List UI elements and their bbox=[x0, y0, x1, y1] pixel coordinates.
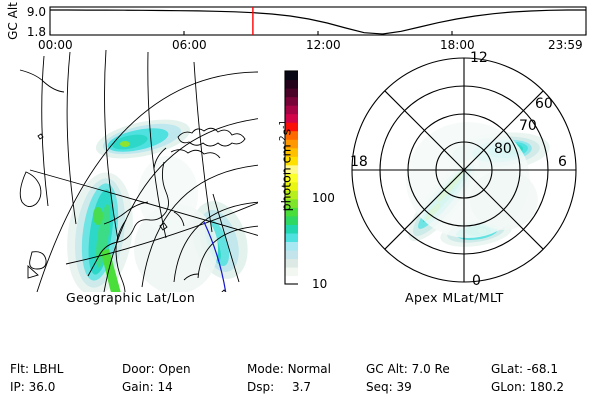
mlat-label-70: 70 bbox=[519, 118, 537, 134]
mlt-panel-caption: Apex MLat/MLT bbox=[405, 290, 504, 305]
mlt-dial-image[interactable]: 12 6 0 18 60 70 80 bbox=[336, 40, 592, 295]
status-seq-label: Seq: bbox=[366, 380, 393, 394]
status-mode-label: Mode: bbox=[247, 362, 284, 376]
mlat-label-60: 60 bbox=[535, 96, 553, 112]
mlt-label-18: 18 bbox=[350, 154, 368, 170]
geographic-map-panel[interactable] bbox=[8, 44, 258, 292]
status-ip-value: 36.0 bbox=[29, 380, 56, 394]
status-gcalt-label: GC Alt: bbox=[366, 362, 408, 376]
colorbar-unit-mid: s bbox=[279, 129, 294, 136]
mlt-spokes bbox=[352, 58, 576, 282]
geographic-map-image[interactable] bbox=[8, 44, 258, 292]
status-seq-value: 39 bbox=[397, 380, 412, 394]
status-glat: GLat: -68.1 bbox=[491, 362, 558, 376]
timeline-xtick-4: 23:59 bbox=[548, 38, 583, 52]
geographic-panel-caption: Geographic Lat/Lon bbox=[66, 290, 195, 305]
mlt-label-0: 0 bbox=[472, 273, 481, 289]
status-footer: Flt: LBHL Door: Open Mode: Normal GC Alt… bbox=[0, 360, 600, 400]
mlt-label-6: 6 bbox=[558, 154, 567, 170]
status-glon-value: 180.2 bbox=[530, 380, 564, 394]
status-dsp: Dsp: 3.7 bbox=[247, 380, 311, 394]
colorbar-axis-title: photon cm-2s-1 bbox=[278, 91, 293, 241]
status-door-label: Door: bbox=[122, 362, 155, 376]
status-glon-label: GLon: bbox=[491, 380, 526, 394]
colorbar-tick-label-10: 10 bbox=[312, 277, 327, 291]
mlt-dial-panel[interactable]: 12 6 0 18 60 70 80 bbox=[336, 40, 592, 295]
timeline-xtick-3: 18:00 bbox=[440, 38, 475, 52]
status-ip-label: IP: bbox=[10, 380, 25, 394]
uvi-display-window: Ultraviolet Imager 20 Oct 07 09:05:07 UT bbox=[0, 0, 600, 400]
status-flt-label: Flt: bbox=[10, 362, 29, 376]
status-door-value: Open bbox=[159, 362, 191, 376]
status-gain-value: 14 bbox=[157, 380, 172, 394]
status-gain: Gain: 14 bbox=[122, 380, 173, 394]
status-gcalt: GC Alt: 7.0 Re bbox=[366, 362, 450, 376]
status-seq: Seq: 39 bbox=[366, 380, 412, 394]
status-flt-value: LBHL bbox=[33, 362, 64, 376]
status-gcalt-value: 7.0 Re bbox=[412, 362, 450, 376]
status-dsp-value: 3.7 bbox=[292, 380, 311, 394]
colorbar-unit-exp2: -1 bbox=[278, 120, 288, 129]
status-door: Door: Open bbox=[122, 362, 191, 376]
status-glat-value: -68.1 bbox=[527, 362, 558, 376]
orbit-altitude-timeline[interactable]: GC Alt 9.0 1.8 00:00 06:00 12:00 18:00 2… bbox=[0, 0, 600, 52]
status-ip: IP: 36.0 bbox=[10, 380, 55, 394]
timeline-xtick-2: 12:00 bbox=[306, 38, 341, 52]
mlt-label-12: 12 bbox=[470, 50, 488, 66]
status-gain-label: Gain: bbox=[122, 380, 154, 394]
status-flt: Flt: LBHL bbox=[10, 362, 63, 376]
mlat-label-80: 80 bbox=[494, 141, 512, 157]
status-glon: GLon: 180.2 bbox=[491, 380, 564, 394]
timeline-xtick-1: 06:00 bbox=[172, 38, 207, 52]
status-glat-label: GLat: bbox=[491, 362, 523, 376]
timeline-plot[interactable] bbox=[0, 0, 600, 52]
status-mode-value: Normal bbox=[288, 362, 331, 376]
intensity-colorbar-panel: 100 10 photon cm-2s-1 bbox=[258, 50, 336, 295]
colorbar-unit-main: photon cm bbox=[279, 144, 294, 211]
timeline-xtick-0: 00:00 bbox=[38, 38, 73, 52]
colorbar-unit-exp1: -2 bbox=[278, 135, 288, 144]
status-dsp-label: Dsp: bbox=[247, 380, 274, 394]
status-mode: Mode: Normal bbox=[247, 362, 331, 376]
colorbar-tick-label-100: 100 bbox=[312, 191, 335, 205]
